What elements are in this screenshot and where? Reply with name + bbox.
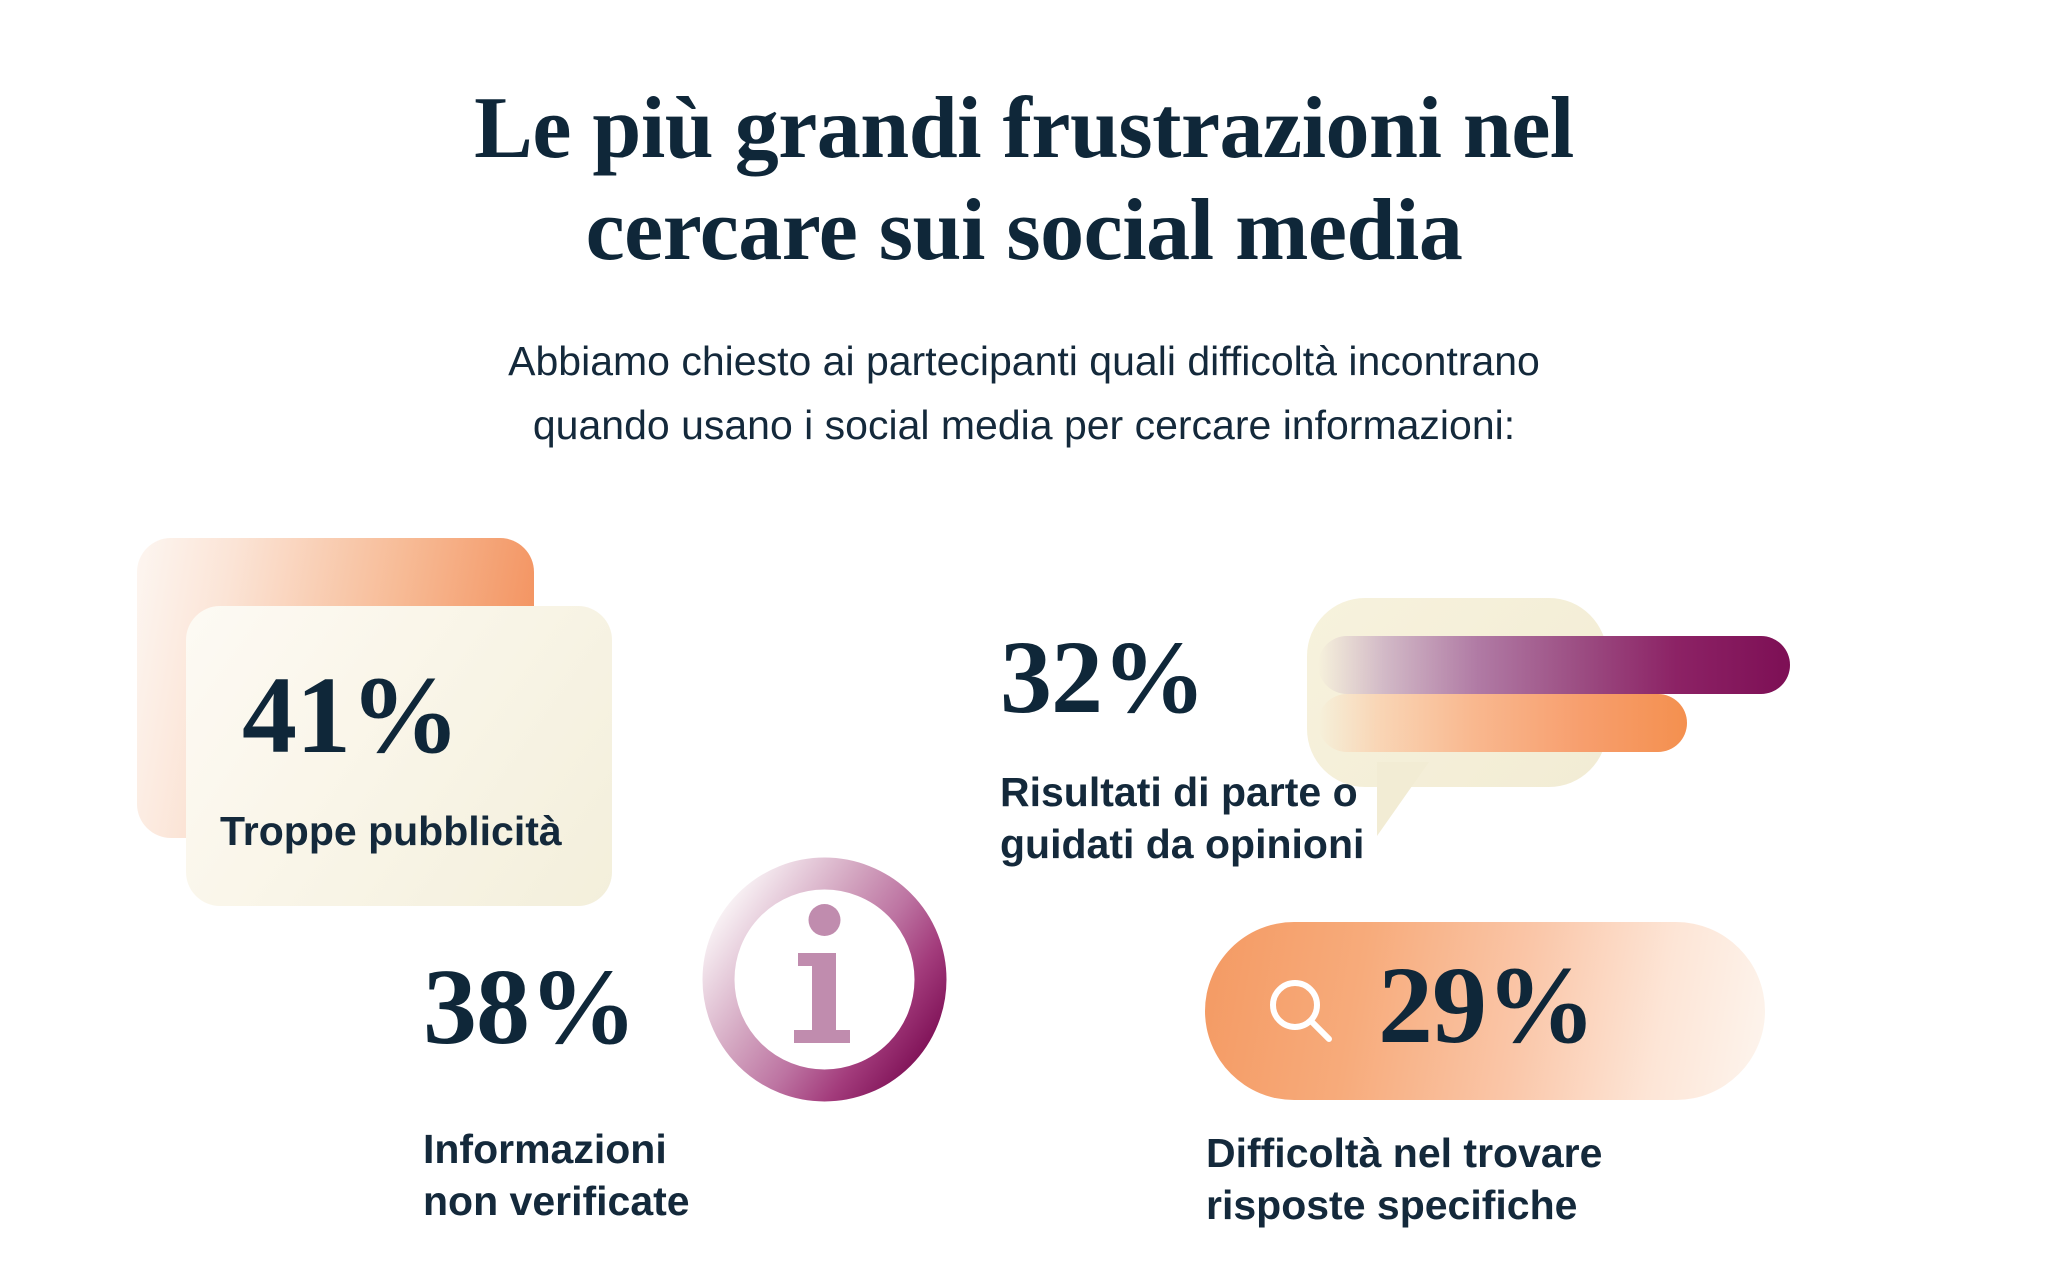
stat-value-unverified-info: 38% [423,954,636,1062]
bubble-bar-orange [1318,694,1687,752]
infographic-canvas: Le più grandi frustrazioni nel cercare s… [0,0,2048,1283]
stat-label-too-many-ads: Troppe pubblicità [220,805,562,857]
stat-label-biased-results: Risultati di parte o guidati da opinioni [1000,766,1364,871]
stat-value-biased-results: 32% [1000,626,1205,730]
search-icon [1265,975,1339,1049]
page-title: Le più grandi frustrazioni nel cercare s… [0,78,2048,282]
page-subtitle: Abbiamo chiesto ai partecipanti quali di… [0,330,2048,457]
stat-value-too-many-ads: 41% [242,660,459,770]
info-stem-icon [794,953,850,1043]
info-circle-icon [702,857,947,1102]
info-dot-icon [809,904,841,936]
stat-label-hard-to-find-answers: Difficoltà nel trovare risposte specific… [1206,1127,1602,1232]
bubble-bar-purple [1318,636,1790,694]
stat-value-hard-to-find-answers: 29% [1378,950,1595,1060]
stat-label-unverified-info: Informazioni non verificate [423,1123,690,1228]
speech-bubble-tail-icon [1377,762,1429,836]
